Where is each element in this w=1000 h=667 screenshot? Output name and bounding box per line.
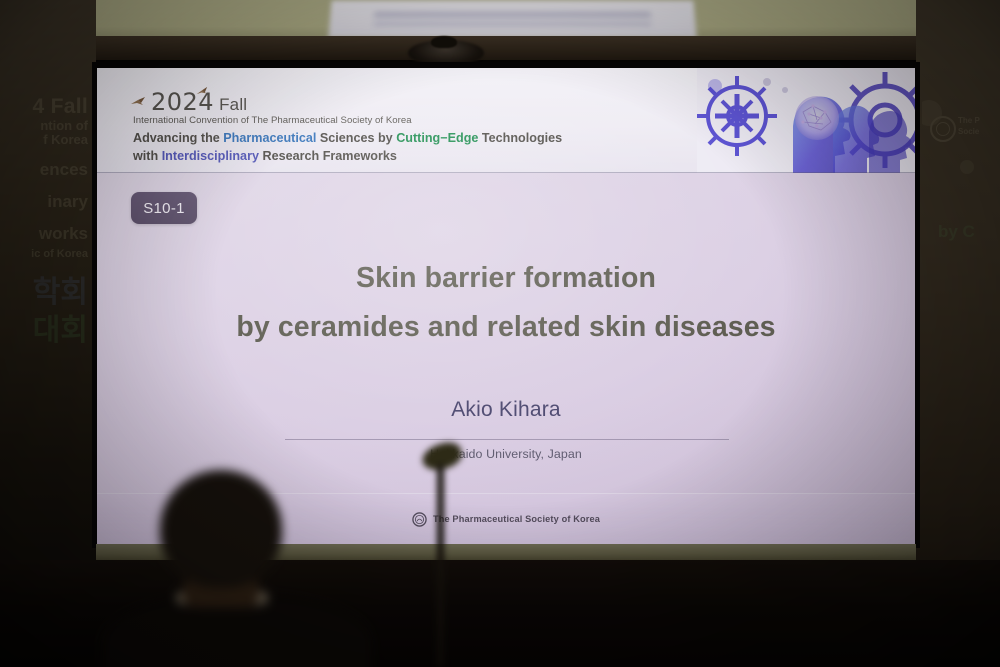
slogan-seg-interdisciplinary: Interdisciplinary: [162, 149, 259, 163]
ceiling-banner: [328, 0, 696, 38]
bird-mark-icon: [195, 86, 208, 99]
slogan-seg-plain: Research Frameworks: [259, 149, 397, 163]
left-poster-korean-1: 학회: [0, 277, 88, 309]
logo-season: Fall: [219, 96, 247, 113]
slogan-seg-plain: Technologies: [478, 131, 562, 145]
slide-header: 2024 Fall International Convention of Th…: [97, 68, 915, 173]
society-seal-icon: [930, 116, 956, 142]
left-poster-line-4: ences: [0, 161, 88, 179]
speaker-name: Akio Kihara: [97, 398, 915, 422]
right-poster-logo-text: The P Socie: [958, 116, 980, 138]
right-poster-logo-line-1: The P: [958, 116, 980, 127]
silhouette-head: [160, 470, 282, 588]
slide-title: Skin barrier formation by ceramides and …: [97, 254, 915, 352]
slogan-seg-plain: with: [133, 149, 162, 163]
slogan-seg-plain: Sciences by: [316, 131, 396, 145]
left-wall-poster: 4 Fall ntion of f Korea ences inary work…: [0, 96, 92, 354]
left-poster-line-6: works: [0, 225, 88, 243]
title-line-2: by ceramides and related skin diseases: [97, 303, 915, 352]
slogan-line-1: Advancing the Pharmaceutical Sciences by…: [133, 129, 562, 147]
left-poster-korean-2: 대회: [0, 315, 88, 347]
left-poster-line-2: ntion of: [0, 119, 88, 133]
session-code-badge: S10-1: [131, 192, 197, 224]
speaker-divider: [285, 439, 729, 440]
left-poster-line-1: 4 Fall: [0, 96, 88, 119]
left-poster-line-7: ic of Korea: [0, 249, 88, 261]
microphone-stand: [437, 464, 444, 667]
speaker-affiliation: Hokkaido University, Japan: [97, 447, 915, 461]
poster-dot-decoration: [960, 160, 974, 174]
slogan-seg-plain: Advancing the: [133, 131, 223, 145]
convention-slogan: Advancing the Pharmaceutical Sciences by…: [133, 129, 562, 166]
header-decorative-artwork: [697, 68, 915, 173]
title-line-1: Skin barrier formation: [97, 254, 915, 303]
slogan-line-2: with Interdisciplinary Research Framewor…: [133, 147, 562, 165]
bird-mark-icon: [130, 95, 146, 111]
convention-logo: 2024 Fall: [130, 90, 247, 114]
left-poster-line-5: inary: [0, 193, 88, 211]
header-divider: [97, 172, 915, 173]
audience-member-silhouette: [132, 470, 344, 667]
slogan-seg-pharmaceutical: Pharmaceutical: [223, 131, 316, 145]
right-poster-by-text: by C: [938, 222, 975, 242]
projector-mount: [431, 36, 457, 48]
convention-subtitle: International Convention of The Pharmace…: [133, 115, 412, 126]
slogan-seg-cutting-edge: Cutting−Edge: [396, 131, 478, 145]
photo-scene: 4 Fall ntion of f Korea ences inary work…: [0, 0, 1000, 667]
right-poster-logo-line-2: Socie: [958, 127, 980, 138]
right-wall-poster: The P Socie by C: [922, 96, 1000, 326]
microphone-on-stand: [418, 444, 464, 667]
left-poster-line-3: f Korea: [0, 133, 88, 147]
